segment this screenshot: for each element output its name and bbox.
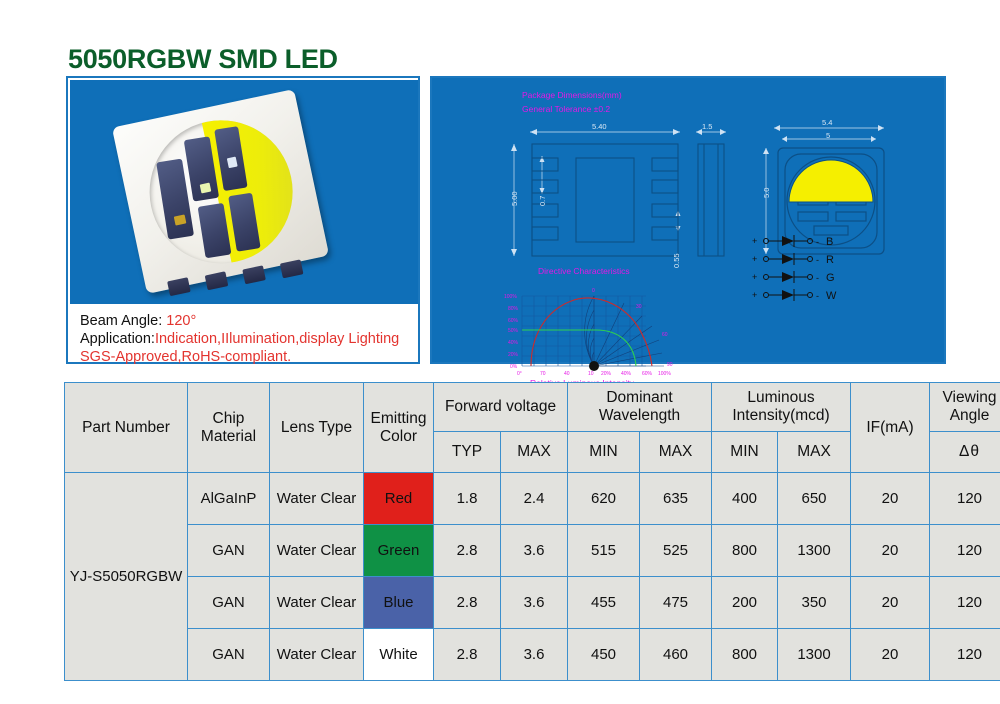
bottom-view-pitch-dim: 0.7 [538,196,547,206]
cell-if-ma: 20 [851,473,930,525]
header-viewing-angle-line1: Viewing [943,389,997,406]
cell-viewing-angle: 120 [930,629,1000,681]
header-dominant-wavelength-line2: Wavelength [599,407,680,424]
application-label: Application: [80,331,155,347]
cell-lum-max: 1300 [778,525,851,577]
header-viewing-angle-line2: Angle [950,407,990,424]
header-emitting-color-line2: Color [380,428,417,445]
solder-pad [280,259,304,278]
header-if-ma: IF(mA) [851,383,930,473]
table-row: GAN Water Clear Blue 2.8 3.6 455 475 200… [65,577,1000,629]
cell-wl-min: 450 [568,629,640,681]
svg-text:60%: 60% [508,318,519,324]
cell-emitting-color: Red [364,473,434,525]
svg-text:B: B [826,236,833,248]
header-wl-max: MAX [640,432,712,473]
svg-text:-: - [816,291,819,301]
header-dominant-wavelength: Dominant Wavelength [568,383,712,432]
svg-text:W: W [826,290,837,302]
cell-lens-type: Water Clear [270,525,364,577]
polarity-diagram: + - B + - [752,233,902,323]
svg-text:+: + [752,272,757,282]
cell-lum-min: 800 [712,525,778,577]
table-row: GAN Water Clear White 2.8 3.6 450 460 80… [65,629,1000,681]
cell-vf-typ: 1.8 [434,473,501,525]
svg-text:R: R [826,254,834,266]
cell-lens-type: Water Clear [270,473,364,525]
header-chip-material-line1: Chip [213,410,245,427]
svg-text:60: 60 [662,332,668,338]
page-title: 5050RGBW SMD LED [68,44,338,75]
cell-part-number: YJ-S5050RGBW [65,473,188,681]
datasheet-page: 5050RGBW SMD LED [0,0,1000,704]
cell-chip-material: GAN [188,629,270,681]
cell-if-ma: 20 [851,577,930,629]
svg-text:70: 70 [540,371,546,377]
header-lum-max: MAX [778,432,851,473]
cell-vf-typ: 2.8 [434,629,501,681]
cell-lum-max: 1300 [778,629,851,681]
svg-text:100%: 100% [504,294,517,300]
cell-lum-max: 350 [778,577,851,629]
cell-vf-typ: 2.8 [434,525,501,577]
svg-text:100%: 100% [658,371,671,377]
header-dominant-wavelength-line1: Dominant [606,389,672,406]
header-luminous-intensity-line1: Luminous [747,389,814,406]
svg-text:30: 30 [636,304,642,310]
header-viewing-angle-symbol: Δθ [930,432,1000,473]
cell-if-ma: 20 [851,525,930,577]
cell-vf-max: 3.6 [501,577,568,629]
compliance-line: SGS-Approved,RoHS-compliant. [80,348,418,366]
technical-drawing-panel: Package Dimensions(mm) General Tolerance… [430,76,946,364]
svg-text:80%: 80% [508,306,519,312]
cell-vf-max: 3.6 [501,525,568,577]
product-caption: Beam Angle: 120° Application:Indication,… [70,306,418,362]
header-vf-typ: TYP [434,432,501,473]
header-lum-min: MIN [712,432,778,473]
application-line: Application:Indication,IIlumination,disp… [80,330,418,348]
svg-text:20%: 20% [508,352,519,358]
solder-pad [167,277,191,296]
cell-wl-max: 635 [640,473,712,525]
beam-angle-line: Beam Angle: 120° [80,312,418,330]
cell-wl-min: 515 [568,525,640,577]
svg-text:40%: 40% [621,371,632,377]
svg-text:0: 0 [592,288,595,294]
header-part-number: Part Number [65,383,188,473]
header-forward-voltage: Forward voltage [434,383,568,432]
solder-pad [205,271,229,290]
side-view-drawing [682,114,752,264]
package-dimensions-heading: Package Dimensions(mm) [522,90,622,100]
tolerance-subheading: General Tolerance ±0.2 [522,104,610,114]
cell-lum-min: 800 [712,629,778,681]
cell-lens-type: Water Clear [270,577,364,629]
cell-lum-min: 400 [712,473,778,525]
led-package-illustration [112,88,334,299]
top-view-outer-width-dim: 5.4 [822,118,832,127]
svg-text:0°: 0° [517,371,522,377]
svg-text:-: - [816,237,819,247]
top-view-inner-width-dim: 5 [826,131,830,140]
header-viewing-angle: Viewing Angle [930,383,1000,432]
cell-chip-material: AlGaInP [188,473,270,525]
product-photo [70,80,418,304]
svg-text:+: + [752,254,757,264]
header-vf-max: MAX [501,432,568,473]
cell-viewing-angle: 120 [930,473,1000,525]
header-chip-material: Chip Material [188,383,270,473]
svg-text:40%: 40% [508,340,519,346]
header-chip-material-line2: Material [201,428,256,445]
solder-pad [242,265,266,284]
polar-chart-title: Directive Characteristics [538,266,630,276]
bottom-view-height-dim: 5.00 [510,191,519,206]
cell-wl-max: 460 [640,629,712,681]
svg-text:20%: 20% [601,371,612,377]
cell-viewing-angle: 120 [930,525,1000,577]
svg-text:-: - [816,255,819,265]
cell-emitting-color: Green [364,525,434,577]
header-luminous-intensity-line2: Intensity(mcd) [732,407,829,424]
table-header-row-1: Part Number Chip Material Lens Type Emit… [65,383,1000,432]
svg-text:50%: 50% [508,328,519,334]
application-value: Indication,IIlumination,display Lighting [155,331,399,347]
bottom-view-width-dim: 5.40 [592,122,607,131]
specifications-table: Part Number Chip Material Lens Type Emit… [64,382,1000,681]
cell-wl-max: 525 [640,525,712,577]
cell-chip-material: GAN [188,525,270,577]
cell-if-ma: 20 [851,629,930,681]
cell-emitting-color: Blue [364,577,434,629]
product-photo-panel: Beam Angle: 120° Application:Indication,… [66,76,420,364]
led-die [227,157,238,169]
svg-text:+: + [752,236,757,246]
top-view-height-dim: 5.0 [762,188,771,198]
cell-viewing-angle: 120 [930,577,1000,629]
table-row: GAN Water Clear Green 2.8 3.6 515 525 80… [65,525,1000,577]
svg-text:10: 10 [588,371,594,377]
beam-angle-value: 120° [166,313,196,329]
bottom-view-pad-width-dim: 0.55 [672,253,681,268]
header-emitting-color-line1: Emitting [371,410,427,427]
polar-chart: 100% 80% 60% 50% 40% 20% 0% 0° 70 40 10 … [484,278,714,378]
svg-text:90: 90 [667,362,673,368]
svg-text:G: G [826,272,835,284]
header-wl-min: MIN [568,432,640,473]
header-lens-type: Lens Type [270,383,364,473]
beam-angle-label: Beam Angle: [80,313,162,329]
cell-chip-material: GAN [188,577,270,629]
cell-wl-min: 620 [568,473,640,525]
side-view-thickness-dim: 1.5 [702,122,712,131]
cell-emitting-color: White [364,629,434,681]
cell-lum-min: 200 [712,577,778,629]
svg-text:40: 40 [564,371,570,377]
cell-lens-type: Water Clear [270,629,364,681]
table-row: YJ-S5050RGBW AlGaInP Water Clear Red 1.8… [65,473,1000,525]
cell-vf-typ: 2.8 [434,577,501,629]
svg-text:0%: 0% [510,364,518,370]
svg-text:60%: 60% [642,371,653,377]
cell-vf-max: 3.6 [501,629,568,681]
cell-wl-min: 455 [568,577,640,629]
cell-vf-max: 2.4 [501,473,568,525]
header-emitting-color: Emitting Color [364,383,434,473]
header-luminous-intensity: Luminous Intensity(mcd) [712,383,851,432]
cell-lum-max: 650 [778,473,851,525]
cell-wl-max: 475 [640,577,712,629]
svg-text:-: - [816,273,819,283]
svg-text:+: + [752,290,757,300]
